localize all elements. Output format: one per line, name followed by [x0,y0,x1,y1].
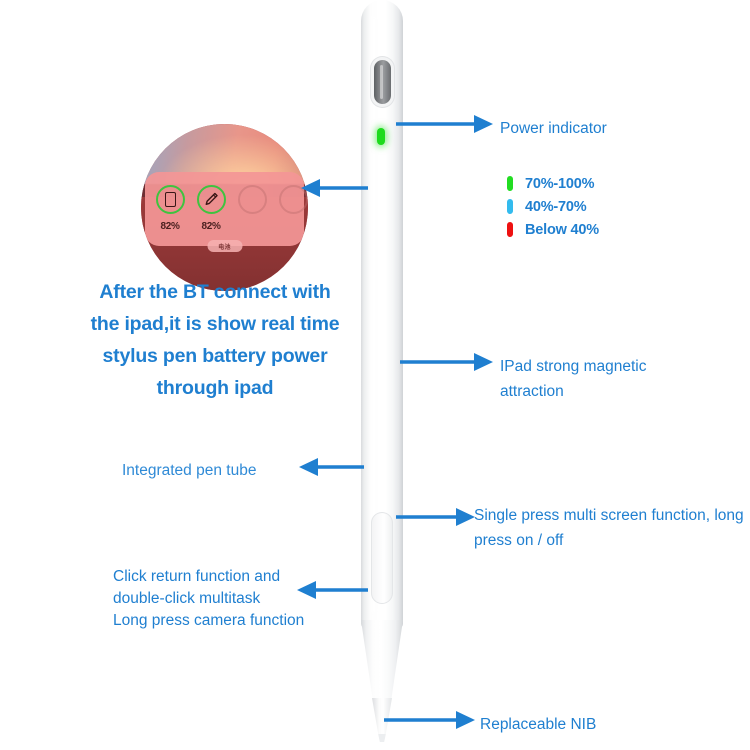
legend-swatch-blue [507,199,513,214]
arrow-to-battery-inset [300,176,368,200]
power-indicator-legend: 70%-100% 40%-70% Below 40% [507,172,599,241]
label-power-indicator: Power indicator [500,116,607,141]
battery-ring-ipad [156,185,185,214]
label-click-return-line3: Long press camera function [113,610,333,632]
legend-swatch-red [507,222,513,237]
arrow-replaceable-nib [384,708,476,732]
battery-cell-empty-1 [236,185,268,214]
battery-percent-ipad: 82% [160,221,179,232]
battery-percent-pencil: 82% [201,221,220,232]
legend-label-mid: 40%-70% [525,199,586,215]
battery-cells: 82% 82% [154,185,308,232]
headline-bt-battery: After the BT connect with the ipad,it is… [84,276,346,404]
touch-control-panel [371,512,393,604]
infographic-canvas: 82% 82% [0,0,750,750]
legend-item-low: Below 40% [507,218,599,241]
label-replaceable-nib: Replaceable NIB [480,712,596,737]
battery-cell-ipad: 82% [154,185,186,232]
label-ipad-magnetic: IPad strong magnetic attraction [500,354,690,404]
arrow-power-indicator [396,112,494,136]
label-click-return-line1: Click return function and [113,566,333,588]
battery-ring-pencil [197,185,226,214]
label-click-return-line2: double-click multitask [113,588,333,610]
legend-label-high: 70%-100% [525,176,594,192]
legend-swatch-green [507,176,513,191]
label-click-return: Click return function and double-click m… [113,566,333,632]
arrow-single-press [396,505,476,529]
power-indicator-led [377,128,385,145]
widget-pill-label: 电池 [207,240,242,252]
legend-item-high: 70%-100% [507,172,599,195]
widget-pill-text: 电池 [218,242,231,251]
legend-label-low: Below 40% [525,222,599,238]
battery-cell-pencil: 82% [195,185,227,232]
legend-item-mid: 40%-70% [507,195,599,218]
magnetic-charging-port [374,60,391,104]
ipad-battery-widget-inset: 82% 82% [141,124,308,291]
label-integrated-pen-tube: Integrated pen tube [122,458,312,483]
pencil-icon [204,192,219,207]
battery-ring-empty-1 [238,185,267,214]
arrow-magnetic-attraction [400,350,494,374]
pen-taper [361,620,403,700]
label-single-press: Single press multi screen function, long… [474,503,744,553]
ipad-icon [165,192,176,207]
battery-widget-card: 82% 82% [145,172,304,246]
